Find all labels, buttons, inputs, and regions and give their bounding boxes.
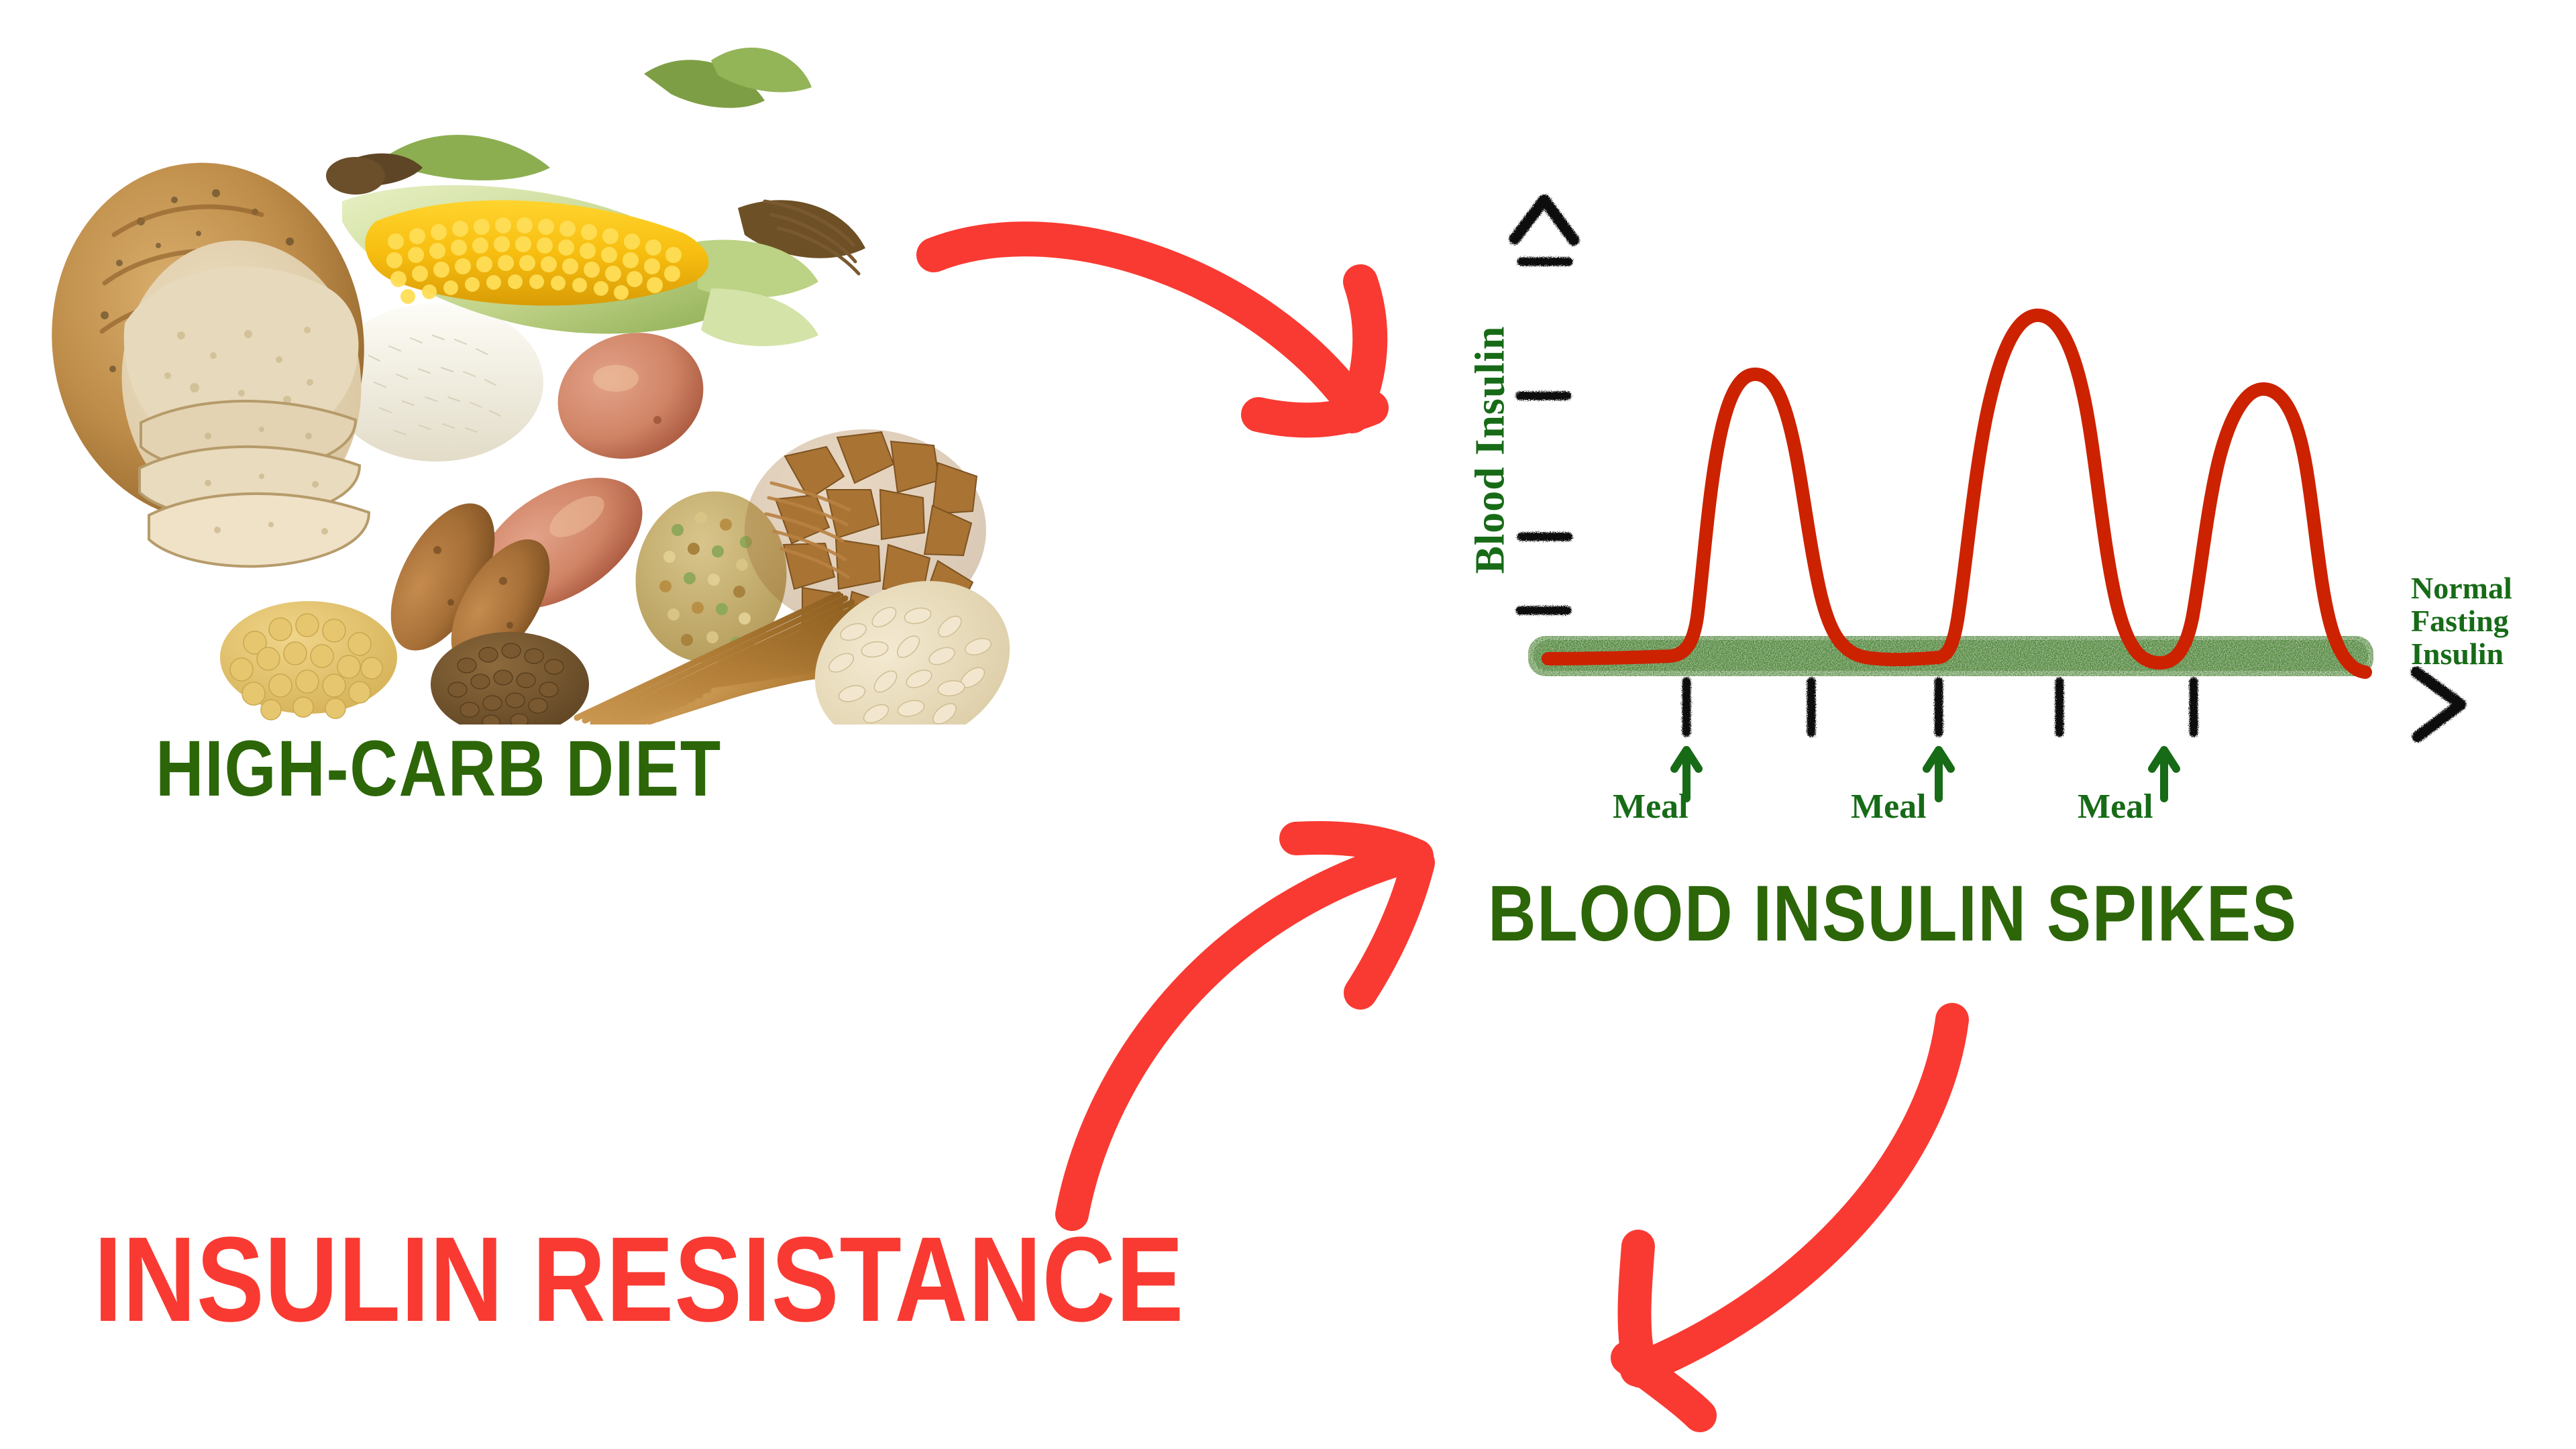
meal-label-3: Meal: [2078, 787, 2153, 826]
food-sweet-potato-round: [541, 315, 720, 478]
meal-arrow-2: [1927, 750, 1951, 798]
caption-high-carb-diet: HIGH-CARB DIET: [156, 723, 722, 814]
meal-label-2: Meal: [1851, 787, 1927, 826]
caption-insulin-resistance: INSULIN RESISTANCE: [94, 1210, 1184, 1349]
blood-insulin-chart: [1469, 174, 2576, 885]
arrow-resistance-to-spikes: [1033, 798, 1516, 1228]
normal-fasting-insulin-label: Normal Fasting Insulin: [2411, 572, 2512, 671]
food-corn-cob: [365, 200, 708, 305]
food-bread-loaf: [40, 142, 387, 566]
arrow-spikes-to-resistance: [1509, 953, 2059, 1422]
band-label-line-2: Fasting: [2411, 604, 2512, 637]
arrow-high-carb-to-spikes: [926, 201, 1462, 510]
band-label-line-1: Normal: [2411, 572, 2512, 604]
insulin-curve: [1548, 315, 2365, 672]
y-axis-label: Blood Insulin: [1464, 225, 1517, 674]
high-carb-food-photo: [40, 20, 1033, 724]
infographic-canvas: Blood Insulin Normal Fasting Insulin Mea…: [0, 0, 2576, 1449]
band-label-line-3: Insulin: [2411, 637, 2512, 670]
meal-label-1: Meal: [1613, 787, 1688, 826]
caption-blood-insulin-spikes: BLOOD INSULIN SPIKES: [1488, 868, 2298, 959]
meal-arrow-3: [2152, 750, 2176, 798]
food-chickpeas: [220, 601, 397, 720]
y-axis-label-text: Blood Insulin: [1467, 325, 1515, 574]
